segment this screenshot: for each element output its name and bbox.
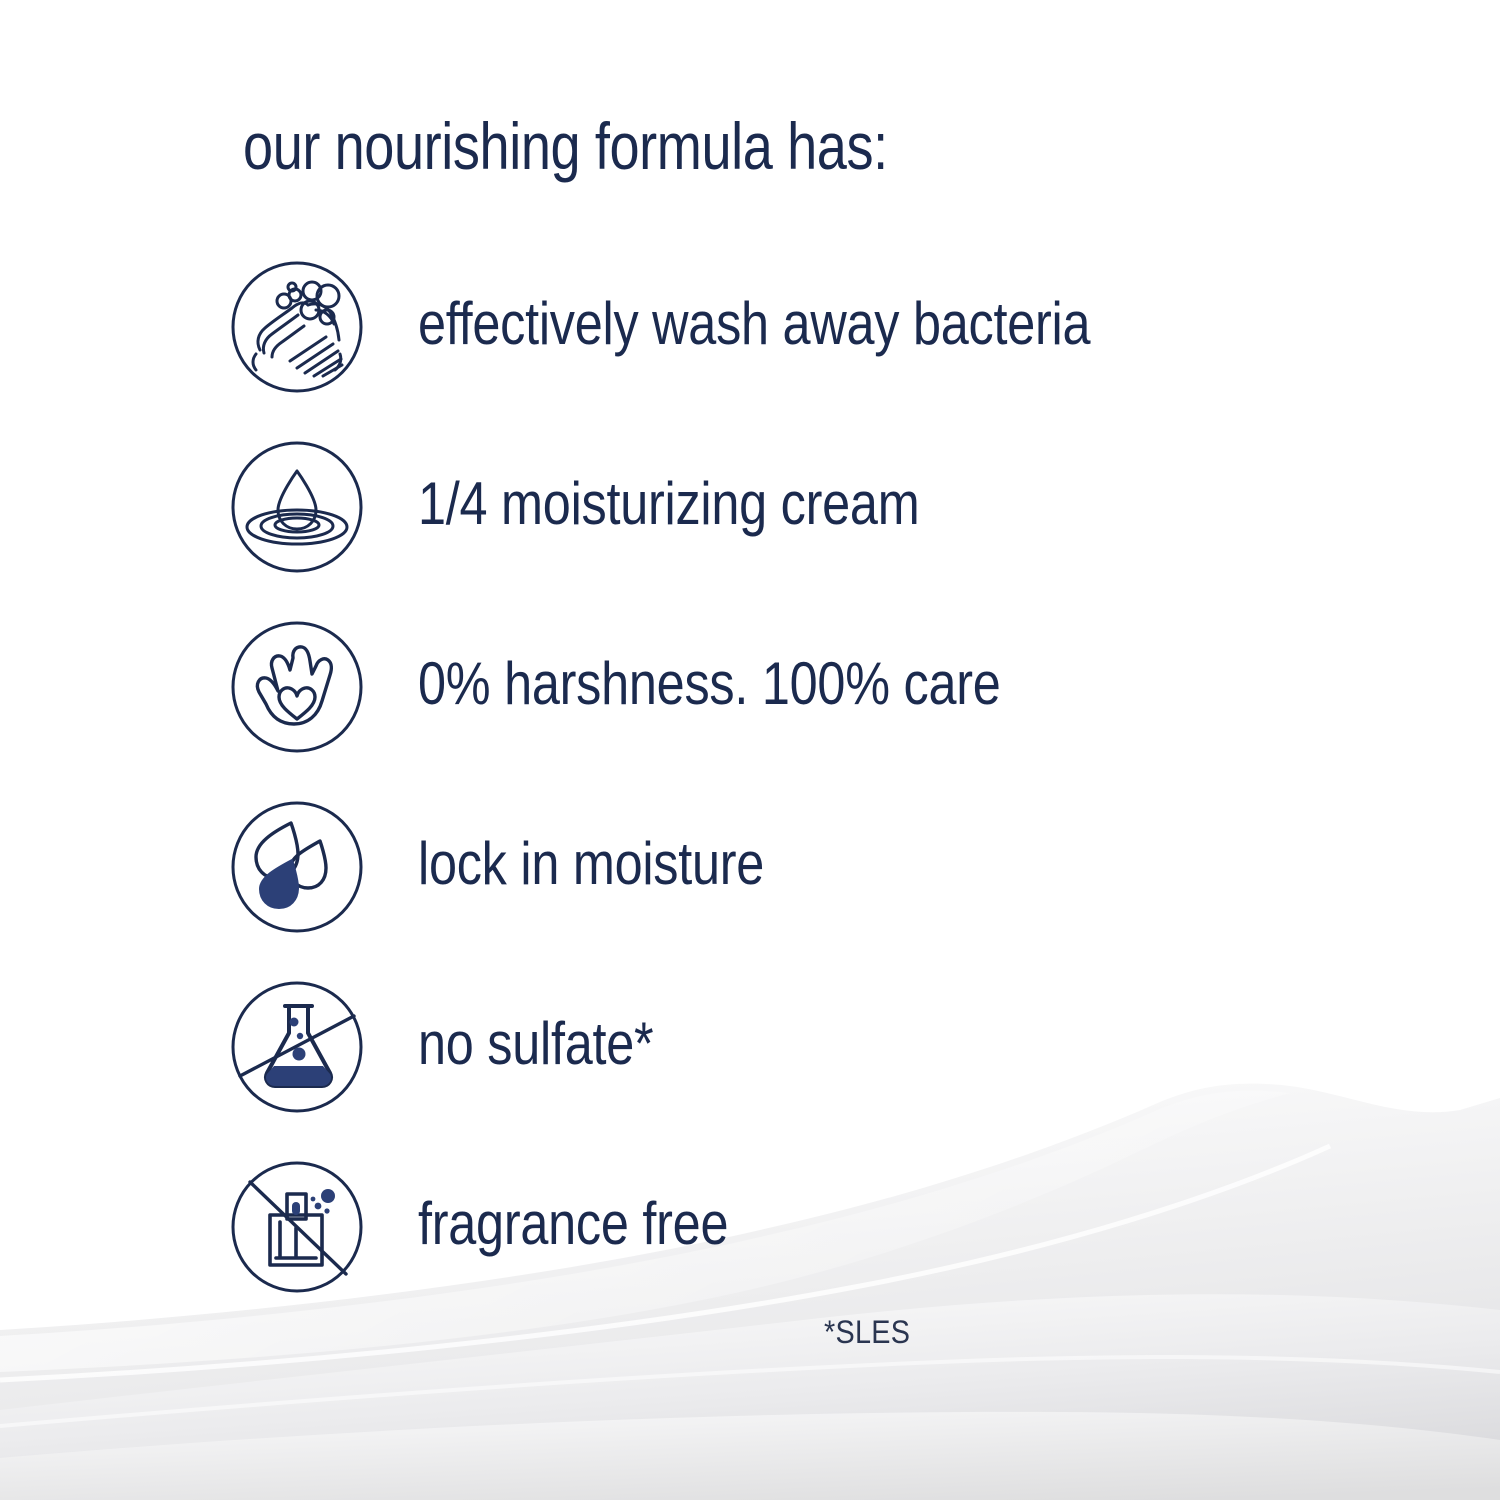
no-perfume-bottle-icon — [228, 1158, 366, 1296]
hand-with-heart-icon — [228, 618, 366, 756]
three-droplets-icon — [228, 798, 366, 936]
footnote-sles: *SLES — [824, 1316, 910, 1348]
benefits-list: effectively wash away bacteria 1/4 — [0, 258, 1500, 1338]
page-title: our nourishing formula has: — [243, 113, 888, 179]
benefit-label: lock in moisture — [418, 834, 764, 894]
washing-hands-bubbles-icon — [228, 258, 366, 396]
benefit-row: lock in moisture — [0, 798, 1500, 978]
no-flask-icon — [228, 978, 366, 1116]
benefit-row: fragrance free — [0, 1158, 1500, 1338]
benefit-label: fragrance free — [418, 1194, 728, 1254]
benefit-row: effectively wash away bacteria — [0, 258, 1500, 438]
benefit-row: 0% harshness. 100% care — [0, 618, 1500, 798]
benefit-label: 1/4 moisturizing cream — [418, 474, 919, 534]
benefit-label: no sulfate* — [418, 1014, 653, 1074]
product-benefits-infographic: our nourishing formula has: — [0, 0, 1500, 1500]
water-droplet-ripple-icon — [228, 438, 366, 576]
benefit-label: effectively wash away bacteria — [418, 294, 1090, 354]
benefit-row: no sulfate* — [0, 978, 1500, 1158]
benefit-row: 1/4 moisturizing cream — [0, 438, 1500, 618]
benefit-label: 0% harshness. 100% care — [418, 654, 1001, 714]
